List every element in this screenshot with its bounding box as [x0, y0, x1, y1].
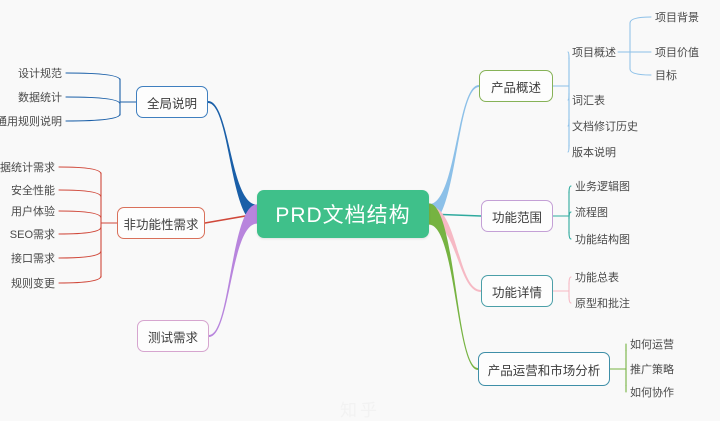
leaf-global-description-0-label: 设计规范 — [18, 65, 62, 81]
root-node-label: PRD文档结构 — [275, 199, 410, 229]
branch-node-test-requirements[interactable]: 测试需求 — [137, 320, 209, 352]
leaf-product-overview-2[interactable]: 文档修订历史 — [572, 118, 638, 134]
branch-link-operations-and-market — [429, 203, 478, 370]
branch-link-test-requirements — [209, 204, 257, 337]
branch-node-function-details[interactable]: 功能详情 — [481, 275, 553, 307]
leaf-non-functional-requirements-1-label: 安全性能 — [11, 182, 55, 198]
leaf-product-overview-0-2-label: 目标 — [655, 67, 677, 83]
leaf-non-functional-requirements-3-label: SEO需求 — [10, 226, 55, 242]
child-link-product-overview-2 — [568, 119, 569, 126]
leaf-function-scope-0-label: 业务逻辑图 — [575, 178, 630, 194]
branch-node-product-overview-label: 产品概述 — [491, 77, 541, 96]
branch-node-operations-and-market[interactable]: 产品运营和市场分析 — [478, 352, 610, 386]
leaf-non-functional-requirements-3[interactable]: SEO需求 — [0, 226, 55, 242]
child-link-function-scope-1 — [569, 212, 571, 219]
leaf-function-scope-2-label: 功能结构图 — [575, 231, 630, 247]
child-link-function-scope-2 — [569, 232, 571, 239]
branch-link-function-scope — [429, 214, 481, 216]
child-link-non-functional-requirements-1 — [59, 190, 101, 197]
branch-link-function-details — [429, 206, 481, 292]
leaf-function-details-1[interactable]: 原型和批注 — [575, 295, 630, 311]
child-link-non-functional-requirements-4 — [59, 251, 101, 258]
leaf-non-functional-requirements-0[interactable]: 数据统计需求 — [0, 159, 55, 175]
grand-link-product-overview-0-2 — [630, 69, 651, 75]
leaf-function-scope-1-label: 流程图 — [575, 204, 608, 220]
branch-node-function-scope[interactable]: 功能范围 — [481, 200, 553, 232]
leaf-global-description-1-label: 数据统计 — [18, 89, 62, 105]
leaf-product-overview-3-label: 版本说明 — [572, 144, 616, 160]
branch-node-global-description-label: 全局说明 — [147, 93, 197, 112]
branch-link-product-overview — [429, 85, 479, 224]
leaf-operations-and-market-1-label: 推广策略 — [630, 361, 674, 377]
child-link-global-description-2 — [66, 114, 120, 121]
leaf-global-description-1[interactable]: 数据统计 — [0, 89, 62, 105]
child-link-non-functional-requirements-2 — [59, 211, 101, 218]
leaf-product-overview-2-label: 文档修订历史 — [572, 118, 638, 134]
leaf-non-functional-requirements-5[interactable]: 规则变更 — [0, 275, 55, 291]
leaf-product-overview-0-2[interactable]: 目标 — [655, 67, 677, 83]
leaf-non-functional-requirements-4[interactable]: 接口需求 — [0, 250, 55, 266]
branch-node-operations-and-market-label: 产品运营和市场分析 — [488, 360, 601, 379]
leaf-function-details-0[interactable]: 功能总表 — [575, 269, 619, 285]
leaf-product-overview-1[interactable]: 词汇表 — [572, 92, 605, 108]
leaf-product-overview-0-label: 项目概述 — [572, 44, 616, 60]
leaf-operations-and-market-0[interactable]: 如何运营 — [630, 336, 674, 352]
leaf-operations-and-market-0-label: 如何运营 — [630, 336, 674, 352]
leaf-non-functional-requirements-5-label: 规则变更 — [11, 275, 55, 291]
branch-node-test-requirements-label: 测试需求 — [148, 327, 198, 346]
leaf-function-scope-2[interactable]: 功能结构图 — [575, 231, 630, 247]
leaf-product-overview-0-0-label: 项目背景 — [655, 9, 699, 25]
child-link-product-overview-0 — [568, 52, 569, 59]
leaf-product-overview-0-1-label: 项目价值 — [655, 44, 699, 60]
leaf-operations-and-market-2-label: 如何协作 — [630, 384, 674, 400]
branch-node-non-functional-requirements-label: 非功能性需求 — [123, 214, 198, 233]
leaf-function-scope-0[interactable]: 业务逻辑图 — [575, 178, 630, 194]
leaf-non-functional-requirements-2-label: 用户体验 — [11, 203, 55, 219]
leaf-function-scope-1[interactable]: 流程图 — [575, 204, 608, 220]
child-link-function-details-0 — [569, 277, 571, 284]
child-link-product-overview-1 — [568, 93, 569, 100]
leaf-product-overview-3[interactable]: 版本说明 — [572, 144, 616, 160]
branch-node-global-description[interactable]: 全局说明 — [136, 86, 208, 118]
branch-node-product-overview[interactable]: 产品概述 — [479, 70, 553, 102]
leaf-operations-and-market-1[interactable]: 推广策略 — [630, 361, 674, 377]
leaf-function-details-1-label: 原型和批注 — [575, 295, 630, 311]
child-link-product-overview-3 — [568, 145, 569, 152]
child-link-global-description-0 — [66, 73, 120, 80]
child-link-non-functional-requirements-3 — [59, 227, 101, 234]
branch-link-non-functional-requirements — [205, 214, 257, 223]
leaf-product-overview-0[interactable]: 项目概述 — [572, 44, 616, 60]
leaf-global-description-0[interactable]: 设计规范 — [0, 65, 62, 81]
leaf-global-description-2-label: 通用规则说明 — [0, 113, 62, 129]
branch-link-global-description — [208, 101, 257, 223]
leaf-non-functional-requirements-4-label: 接口需求 — [11, 250, 55, 266]
child-link-non-functional-requirements-5 — [59, 276, 101, 283]
branch-node-function-details-label: 功能详情 — [492, 282, 542, 301]
grand-link-product-overview-0-0 — [630, 17, 651, 23]
leaf-product-overview-1-label: 词汇表 — [572, 92, 605, 108]
leaf-non-functional-requirements-1[interactable]: 安全性能 — [0, 182, 55, 198]
mindmap-canvas: 知乎 PRD文档结构全局说明设计规范数据统计通用规则说明非功能性需求数据统计需求… — [0, 0, 720, 421]
leaf-non-functional-requirements-2[interactable]: 用户体验 — [0, 203, 55, 219]
leaf-product-overview-0-0[interactable]: 项目背景 — [655, 9, 699, 25]
child-link-global-description-1 — [66, 97, 120, 104]
child-link-non-functional-requirements-0 — [59, 167, 101, 174]
leaf-function-details-0-label: 功能总表 — [575, 269, 619, 285]
branch-node-non-functional-requirements[interactable]: 非功能性需求 — [117, 207, 205, 239]
child-link-function-details-1 — [569, 296, 571, 303]
leaf-product-overview-0-1[interactable]: 项目价值 — [655, 44, 699, 60]
branch-node-function-scope-label: 功能范围 — [492, 207, 542, 226]
leaf-global-description-2[interactable]: 通用规则说明 — [0, 113, 62, 129]
watermark: 知乎 — [0, 396, 720, 421]
child-link-function-scope-0 — [569, 186, 571, 193]
leaf-operations-and-market-2[interactable]: 如何协作 — [630, 384, 674, 400]
leaf-non-functional-requirements-0-label: 数据统计需求 — [0, 159, 55, 175]
root-node[interactable]: PRD文档结构 — [257, 190, 429, 238]
